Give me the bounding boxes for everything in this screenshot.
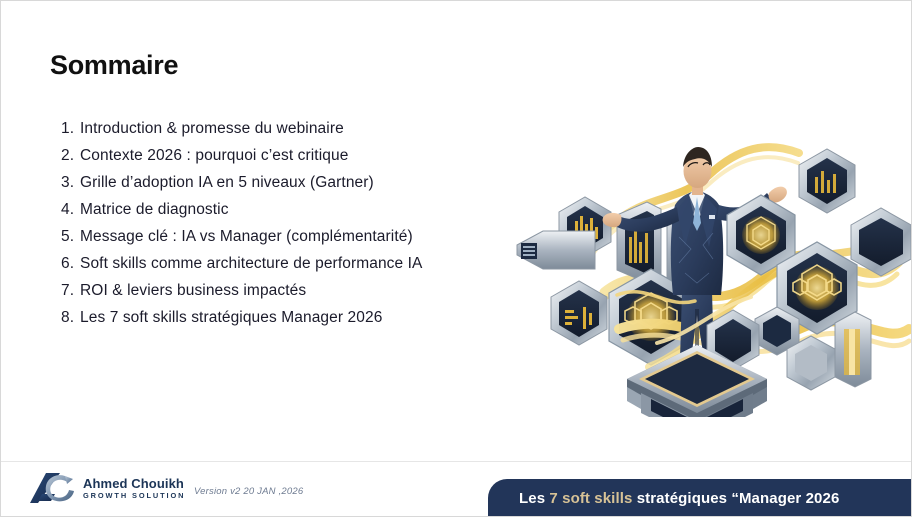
brand-text: Ahmed Chouikh GROWTH SOLUTION (83, 477, 185, 499)
agenda-item: 8.Les 7 soft skills stratégiques Manager… (61, 304, 461, 331)
agenda-item-label: Matrice de diagnostic (80, 196, 461, 223)
page-title: Sommaire (50, 51, 178, 81)
agenda-item: 3.Grille d’adoption IA en 5 niveaux (Gar… (61, 169, 461, 196)
agenda-item: 5.Message clé : IA vs Manager (complémen… (61, 223, 461, 250)
module-hex (551, 281, 607, 345)
agenda-item-number: 1. (61, 115, 80, 142)
version-label: Version v2 20 JAN ,2026 (194, 486, 303, 497)
brand-tagline: GROWTH SOLUTION (83, 492, 185, 499)
agenda-item-label: Message clé : IA vs Manager (complémenta… (80, 223, 461, 250)
agenda-item-number: 8. (61, 304, 80, 331)
module-column (835, 312, 871, 387)
banner-highlight: 7 soft skills (549, 490, 632, 507)
module-hex (851, 208, 911, 276)
presentation-slide: Sommaire 1.Introduction & promesse du we… (0, 0, 912, 517)
bottom-banner: Les 7 soft skills stratégiques “Manager … (488, 479, 912, 517)
hero-illustration (499, 97, 911, 417)
agenda-item-number: 3. (61, 169, 80, 196)
agenda-list: 1.Introduction & promesse du webinaire2.… (61, 115, 461, 331)
brand-name: Ahmed Chouikh (83, 477, 185, 490)
banner-part-1: Les (519, 490, 549, 507)
banner-part-2: stratégiques “Manager 2026 (632, 490, 839, 507)
agenda-item-number: 2. (61, 142, 80, 169)
agenda-item-number: 7. (61, 277, 80, 304)
agenda-item-label: Introduction & promesse du webinaire (80, 115, 461, 142)
footer-divider (1, 461, 912, 462)
brand-logo: Ahmed Chouikh GROWTH SOLUTION (29, 469, 185, 507)
agenda-item-number: 4. (61, 196, 80, 223)
banner-title: Les 7 soft skills stratégiques “Manager … (519, 490, 839, 507)
module-bar (517, 231, 595, 269)
agenda-item: 1.Introduction & promesse du webinaire (61, 115, 461, 142)
agenda-item-number: 5. (61, 223, 80, 250)
agenda-item: 2.Contexte 2026 : pourquoi c’est critiqu… (61, 142, 461, 169)
agenda-item-number: 6. (61, 250, 80, 277)
agenda-item-label: Les 7 soft skills stratégiques Manager 2… (80, 304, 461, 331)
agenda-item-label: Grille d’adoption IA en 5 niveaux (Gartn… (80, 169, 461, 196)
agenda-item-label: Soft skills comme architecture de perfor… (80, 250, 461, 277)
agenda-item-label: Contexte 2026 : pourquoi c’est critique (80, 142, 461, 169)
module-hex (799, 149, 855, 213)
agenda-item: 7.ROI & leviers business impactés (61, 277, 461, 304)
ac-monogram-icon (29, 470, 77, 506)
agenda-item-label: ROI & leviers business impactés (80, 277, 461, 304)
agenda-item: 6.Soft skills comme architecture de perf… (61, 250, 461, 277)
agenda-item: 4.Matrice de diagnostic (61, 196, 461, 223)
